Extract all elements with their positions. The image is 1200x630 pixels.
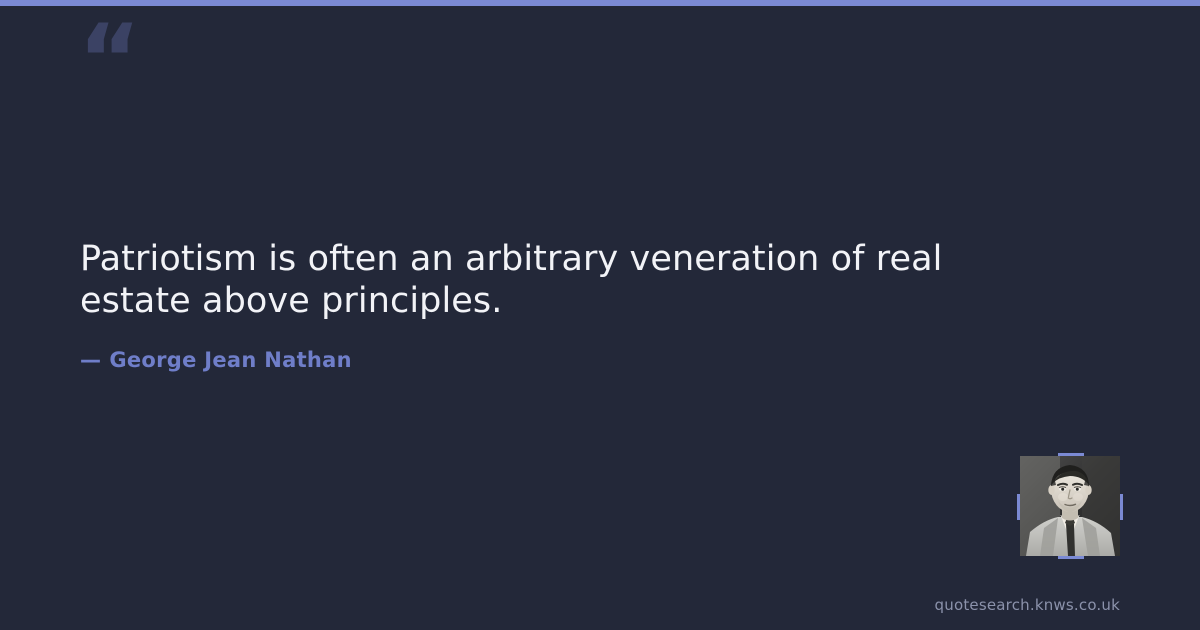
quote-attribution: —George Jean Nathan: [80, 348, 960, 372]
quote-block: Patriotism is often an arbitrary venerat…: [80, 238, 960, 372]
portrait-accent-top: [1058, 453, 1084, 456]
attribution-dash: —: [80, 348, 101, 372]
author-portrait: [1020, 456, 1120, 556]
author-name: George Jean Nathan: [109, 348, 352, 372]
portrait-image: [1020, 456, 1120, 556]
portrait-accent-left: [1017, 494, 1020, 520]
quote-text: Patriotism is often an arbitrary venerat…: [80, 238, 960, 322]
quote-mark-icon: “: [78, 12, 139, 108]
portrait-accent-bottom: [1058, 556, 1084, 559]
source-url: quotesearch.knws.co.uk: [935, 596, 1120, 614]
quote-card: “ Patriotism is often an arbitrary vener…: [0, 6, 1200, 630]
portrait-accent-right: [1120, 494, 1123, 520]
